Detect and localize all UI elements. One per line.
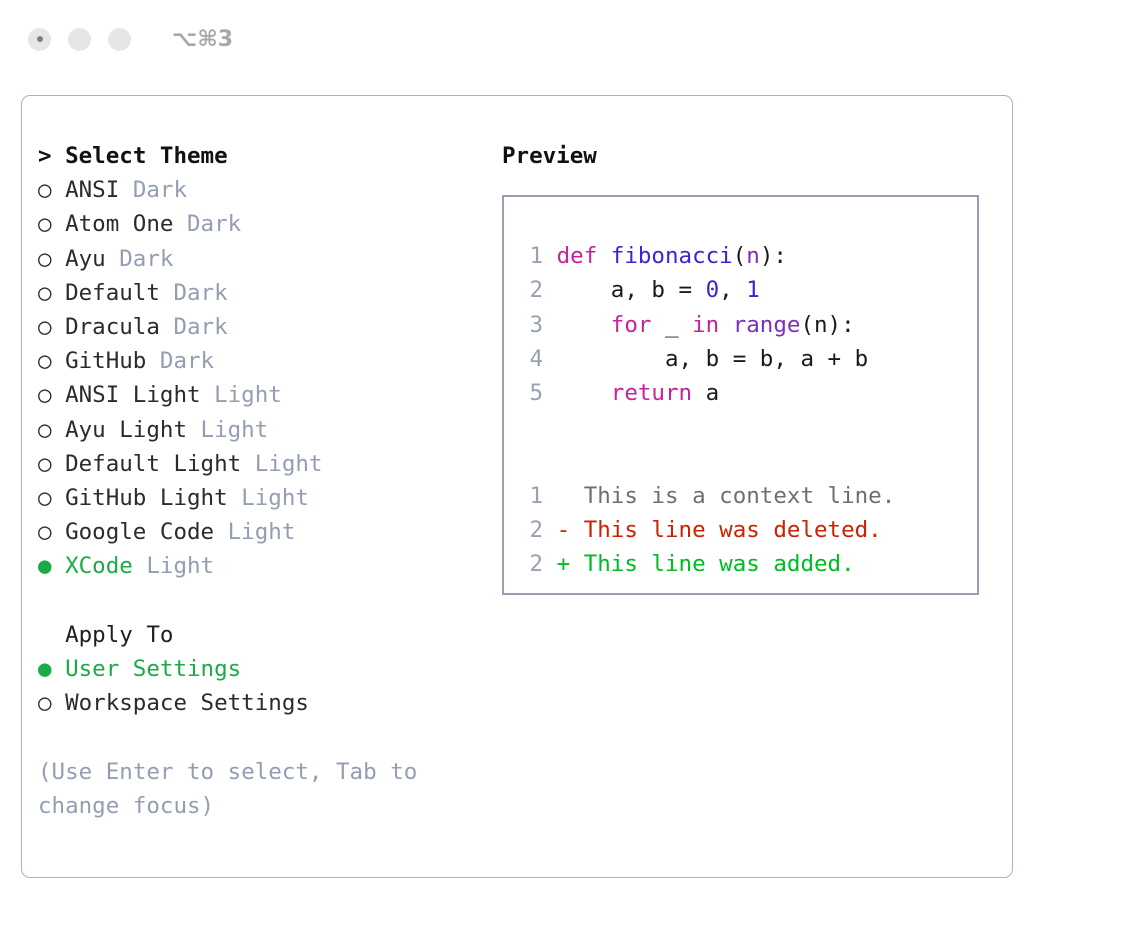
theme-name: GitHub Light [65,485,228,511]
theme-list-item[interactable]: ○ Default Light Light [38,447,478,481]
code-token: a, b = [557,277,706,303]
theme-name: ANSI [65,177,119,203]
code-token: return [611,380,692,406]
list-spacer [38,584,478,618]
code-token [597,243,611,269]
heading-text: Select Theme [65,143,228,169]
theme-variant: Dark [133,177,187,203]
radio-icon[interactable]: ○ [38,173,52,207]
theme-variant: Light [214,382,282,408]
diff-sign: + [557,551,571,577]
code-line: 2 a, b = 0, 1 [516,273,977,307]
apply-to-item-selected[interactable]: ● User Settings [38,652,478,686]
theme-name: Google Code [65,519,214,545]
preview-box: 1def fibonacci(n): 2 a, b = 0, 1 3 for _… [502,195,979,595]
theme-list: ○ ANSI Dark ○ Atom One Dark ○ Ayu Dark ○… [38,173,478,583]
apply-to-label: User Settings [65,656,241,682]
code-line: 3 for _ in range(n): [516,308,977,342]
diff-text: This is a context line. [570,483,895,509]
window-light-2-icon[interactable] [68,28,91,51]
theme-variant: Light [201,417,269,443]
radio-icon[interactable]: ○ [38,686,52,720]
theme-list-item[interactable]: ○ GitHub Dark [38,344,478,378]
code-token: 0 [706,277,720,303]
radio-icon-selected[interactable]: ● [38,549,52,583]
theme-list-item[interactable]: ○ GitHub Light Light [38,481,478,515]
code-diff-spacer [516,410,977,444]
theme-variant: Light [146,553,214,579]
diff-text: This line was added. [570,551,854,577]
code-token: ): [760,243,787,269]
theme-name: Atom One [65,211,173,237]
code-token: (n): [800,312,854,338]
radio-icon[interactable]: ○ [38,276,52,310]
apply-to-label: Workspace Settings [65,690,309,716]
theme-variant: Dark [160,348,214,374]
line-number: 2 [516,273,543,307]
line-number: 2 [516,547,543,581]
window-light-3-icon[interactable] [108,28,131,51]
theme-variant: Light [228,519,296,545]
apply-to-list: ● User Settings ○ Workspace Settings [38,652,478,720]
code-token: ( [733,243,747,269]
code-token: , [719,277,746,303]
heading-caret: > [38,143,65,169]
apply-to-heading-text: Apply To [65,622,173,648]
main-panel: > Select Theme ○ ANSI Dark ○ Atom One Da… [21,95,1013,878]
radio-icon[interactable]: ○ [38,413,52,447]
theme-list-item[interactable]: ○ Default Dark [38,276,478,310]
code-line: 4 a, b = b, a + b [516,342,977,376]
diff-sign [557,483,571,509]
theme-list-item[interactable]: ○ Dracula Dark [38,310,478,344]
window-light-active-dot [37,36,43,42]
code-token: a, b = b, a + b [557,346,869,372]
radio-icon[interactable]: ○ [38,344,52,378]
diff-line-added: 2+ This line was added. [516,547,977,581]
keyboard-shortcut-label: ⌥⌘3 [172,27,233,52]
code-token: for [611,312,652,338]
theme-list-item[interactable]: ○ Atom One Dark [38,207,478,241]
radio-icon[interactable]: ○ [38,207,52,241]
code-token: def [557,243,598,269]
keyboard-hint-text: (Use Enter to select, Tab to change focu… [38,755,443,823]
code-diff-spacer-2 [516,444,977,478]
code-token: 1 [746,277,760,303]
code-line: 1def fibonacci(n): [516,239,977,273]
line-number: 1 [516,239,543,273]
diff-sign: - [557,517,571,543]
theme-variant: Dark [173,314,227,340]
theme-name: XCode [65,553,133,579]
theme-variant: Dark [187,211,241,237]
theme-name: ANSI Light [65,382,200,408]
window-light-active-icon[interactable] [28,28,51,51]
code-token: a [692,380,719,406]
theme-list-item[interactable]: ○ Ayu Dark [38,242,478,276]
code-token: n [746,243,760,269]
theme-name: Ayu [65,246,106,272]
radio-icon[interactable]: ○ [38,515,52,549]
apply-to-heading: Apply To [38,618,478,652]
diff-sample: 1 This is a context line. 2- This line w… [516,479,977,582]
radio-icon[interactable]: ○ [38,447,52,481]
radio-icon[interactable]: ○ [38,378,52,412]
diff-text: This line was deleted. [570,517,882,543]
theme-variant: Dark [173,280,227,306]
code-token: range [733,312,801,338]
radio-icon[interactable]: ○ [38,310,52,344]
code-sample: 1def fibonacci(n): 2 a, b = 0, 1 3 for _… [516,239,977,410]
theme-variant: Light [255,451,323,477]
theme-variant: Light [241,485,309,511]
traffic-lights [28,28,131,51]
line-number: 5 [516,376,543,410]
code-token: in [692,312,719,338]
radio-icon-selected[interactable]: ● [38,652,52,686]
line-number: 2 [516,513,543,547]
theme-name: Default Light [65,451,241,477]
theme-selector-column: > Select Theme ○ ANSI Dark ○ Atom One Da… [38,139,478,823]
code-token [557,380,611,406]
line-number: 3 [516,308,543,342]
app-screenshot: ⌥⌘3 > Select Theme ○ ANSI Dark ○ Atom On… [0,0,1140,934]
radio-icon[interactable]: ○ [38,242,52,276]
theme-variant: Dark [119,246,173,272]
preview-column: Preview 1def fibonacci(n): 2 a, b = 0, 1… [502,139,992,595]
theme-list-item[interactable]: ○ ANSI Dark [38,173,478,207]
radio-icon[interactable]: ○ [38,481,52,515]
line-number: 1 [516,479,543,513]
theme-list-item[interactable]: ○ Ayu Light Light [38,413,478,447]
code-token [719,312,733,338]
theme-list-item[interactable]: ○ ANSI Light Light [38,378,478,412]
theme-name: GitHub [65,348,146,374]
code-line: 5 return a [516,376,977,410]
apply-to-item[interactable]: ○ Workspace Settings [38,686,478,720]
hint-spacer [38,720,478,754]
theme-list-item-selected[interactable]: ● XCode Light [38,549,478,583]
select-theme-heading: > Select Theme [38,139,478,173]
line-number: 4 [516,342,543,376]
code-token: fibonacci [611,243,733,269]
diff-line-context: 1 This is a context line. [516,479,977,513]
theme-name: Dracula [65,314,160,340]
code-token [557,312,611,338]
window-card: ⌥⌘3 > Select Theme ○ ANSI Dark ○ Atom On… [0,0,1140,922]
window-titlebar: ⌥⌘3 [0,0,1140,78]
theme-name: Ayu Light [65,417,187,443]
diff-line-deleted: 2- This line was deleted. [516,513,977,547]
preview-title: Preview [502,139,992,173]
theme-list-item[interactable]: ○ Google Code Light [38,515,478,549]
theme-name: Default [65,280,160,306]
code-token: _ [651,312,692,338]
